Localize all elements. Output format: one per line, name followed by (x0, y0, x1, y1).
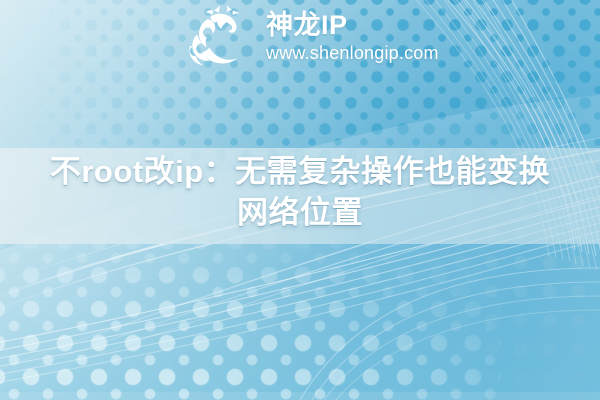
page-title-line-1: 不root改ip：无需复杂操作也能变换 (18, 152, 582, 193)
dragon-head-icon (186, 2, 258, 72)
brand-name: 神龙IP (266, 12, 439, 39)
brand-text: 神龙IP www.shenlongip.com (266, 12, 439, 62)
page-title-line-2: 网络位置 (18, 193, 582, 234)
brand-logo: 神龙IP www.shenlongip.com (186, 2, 439, 72)
page-title: 不root改ip：无需复杂操作也能变换 网络位置 (0, 152, 600, 234)
brand-url: www.shenlongip.com (266, 44, 439, 62)
promo-banner: 神龙IP www.shenlongip.com 不root改ip：无需复杂操作也… (0, 0, 600, 400)
